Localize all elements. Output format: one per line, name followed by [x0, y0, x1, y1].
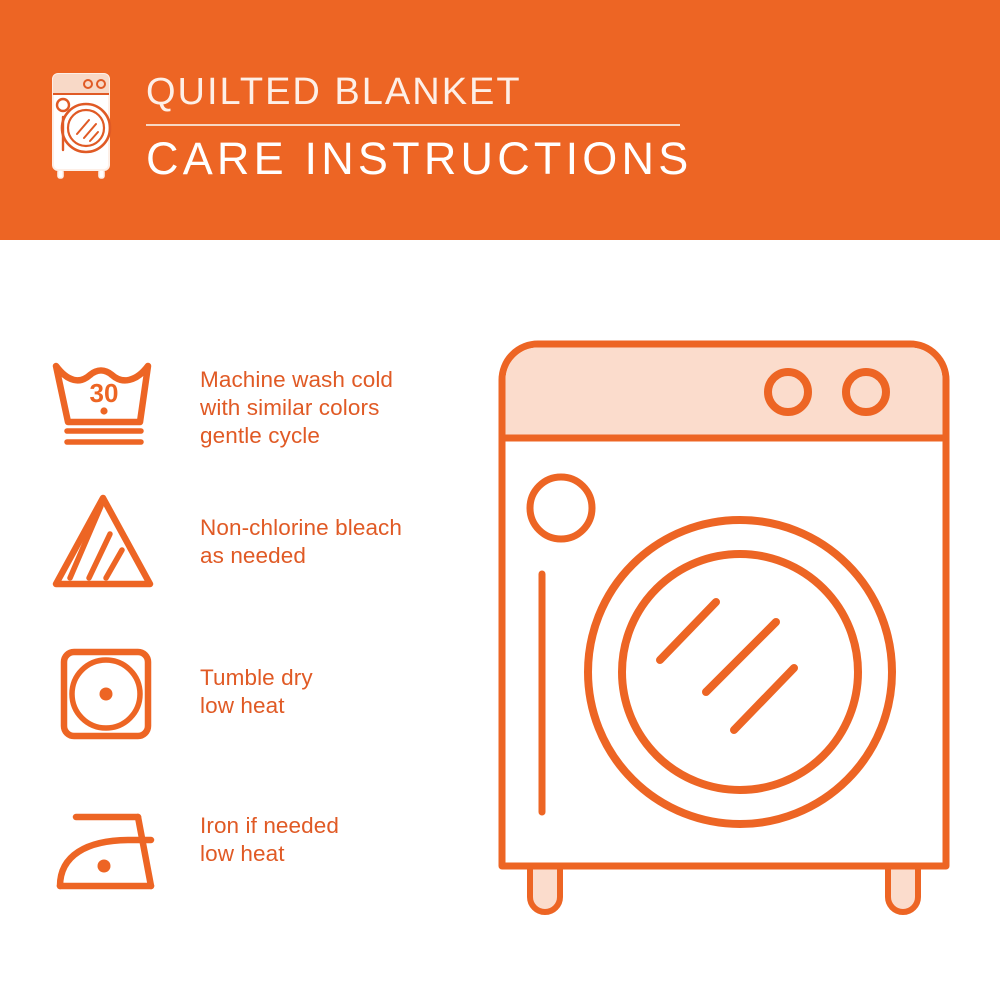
care-item-text: Tumble dry low heat [200, 664, 313, 720]
care-text-line: Non-chlorine bleach [200, 514, 402, 542]
washing-machine-icon [44, 68, 116, 180]
care-item-text: Iron if needed low heat [200, 812, 339, 868]
washing-machine-illustration [488, 330, 958, 930]
care-item-bleach: Non-chlorine bleach as needed [0, 490, 480, 640]
header-title-block: QUILTED BLANKET CARE INSTRUCTIONS [146, 70, 706, 184]
care-instructions-page: QUILTED BLANKET CARE INSTRUCTIONS 30 [0, 0, 1000, 1000]
care-text-line: as needed [200, 542, 402, 570]
wash-temperature-label: 30 [90, 378, 119, 408]
care-text-line: Tumble dry [200, 664, 313, 692]
care-item-text: Non-chlorine bleach as needed [200, 514, 402, 570]
care-text-line: Machine wash cold [200, 366, 393, 394]
title-divider [146, 124, 680, 126]
control-panel [506, 348, 943, 439]
care-text-line: Iron if needed [200, 812, 339, 840]
care-text-line: low heat [200, 840, 339, 868]
care-text-line: low heat [200, 692, 313, 720]
page-title-secondary: CARE INSTRUCTIONS [146, 134, 706, 184]
care-text-line: with similar colors [200, 394, 393, 422]
care-text-line: gentle cycle [200, 422, 393, 450]
care-item-tumble-dry: Tumble dry low heat [0, 646, 480, 796]
tumble-dry-icon [58, 646, 154, 742]
care-item-machine-wash: 30 Machine wash cold with similar colors… [0, 344, 480, 494]
care-item-iron: Iron if needed low heat [0, 798, 480, 948]
header-banner: QUILTED BLANKET CARE INSTRUCTIONS [0, 0, 1000, 240]
page-title-primary: QUILTED BLANKET [146, 70, 706, 114]
care-item-text: Machine wash cold with similar colors ge… [200, 366, 393, 450]
wash-tub-30-icon: 30 [50, 358, 160, 450]
iron-icon [52, 808, 164, 892]
bleach-triangle-icon [46, 492, 160, 592]
